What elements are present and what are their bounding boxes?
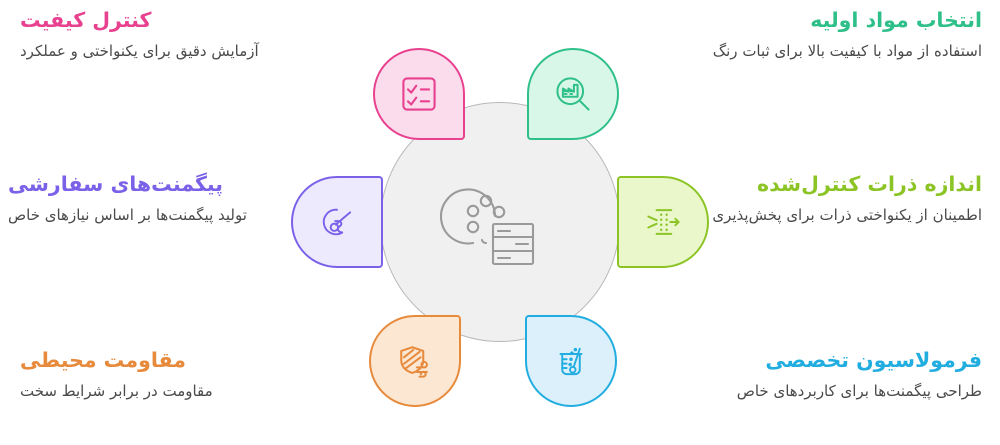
node-desc-quality-control: آزمایش دقیق برای یکنواختی و عملکرد: [20, 41, 360, 61]
node-title-controlled-particle-size: اندازه ذرات کنترل‌شده: [622, 172, 982, 198]
node-desc-controlled-particle-size: اطمینان از یکنواختی ذرات برای پخش‌پذیری: [622, 205, 982, 225]
node-label-specialized-formulation: فرمولاسیون تخصصی طراحی پیگمنت‌ها برای کا…: [622, 348, 982, 401]
infographic-canvas: کنترل کیفیت آزمایش دقیق برای یکنواختی و …: [0, 0, 1000, 445]
node-pin-raw-material-selection[interactable]: [527, 48, 619, 140]
palette-brush-icon: [316, 201, 358, 243]
beaker-stirrer-icon: [550, 340, 592, 382]
node-title-environmental-resistance: مقاومت محیطی: [20, 348, 360, 374]
node-label-raw-material-selection: انتخاب مواد اولیه استفاده از مواد با کیف…: [602, 8, 982, 61]
paint-palette-color-chart-icon: [440, 172, 560, 272]
node-title-specialized-formulation: فرمولاسیون تخصصی: [622, 348, 982, 374]
node-desc-environmental-resistance: مقاومت در برابر شرایط سخت: [20, 381, 360, 401]
node-title-quality-control: کنترل کیفیت: [20, 8, 360, 34]
node-label-quality-control: کنترل کیفیت آزمایش دقیق برای یکنواختی و …: [20, 8, 360, 61]
checklist-icon: [397, 72, 441, 116]
node-label-custom-pigments: پیگمنت‌های سفارشی تولید پیگمنت‌ها بر اسا…: [8, 172, 278, 225]
node-desc-specialized-formulation: طراحی پیگمنت‌ها برای کاربردهای خاص: [622, 381, 982, 401]
node-pin-environmental-resistance[interactable]: [369, 315, 461, 407]
node-pin-custom-pigments[interactable]: [291, 176, 383, 268]
node-pin-specialized-formulation[interactable]: [525, 315, 617, 407]
node-title-raw-material-selection: انتخاب مواد اولیه: [602, 8, 982, 34]
node-desc-raw-material-selection: استفاده از مواد با کیفیت بالا برای ثبات …: [602, 41, 982, 61]
node-label-controlled-particle-size: اندازه ذرات کنترل‌شده اطمینان از یکنواخت…: [622, 172, 982, 225]
node-pin-quality-control[interactable]: [373, 48, 465, 140]
shield-wind-icon: [393, 339, 437, 383]
factory-magnifier-icon: [551, 72, 595, 116]
node-label-environmental-resistance: مقاومت محیطی مقاومت در برابر شرایط سخت: [20, 348, 360, 401]
node-desc-custom-pigments: تولید پیگمنت‌ها بر اساس نیازهای خاص: [8, 205, 278, 225]
node-title-custom-pigments: پیگمنت‌های سفارشی: [8, 172, 278, 198]
